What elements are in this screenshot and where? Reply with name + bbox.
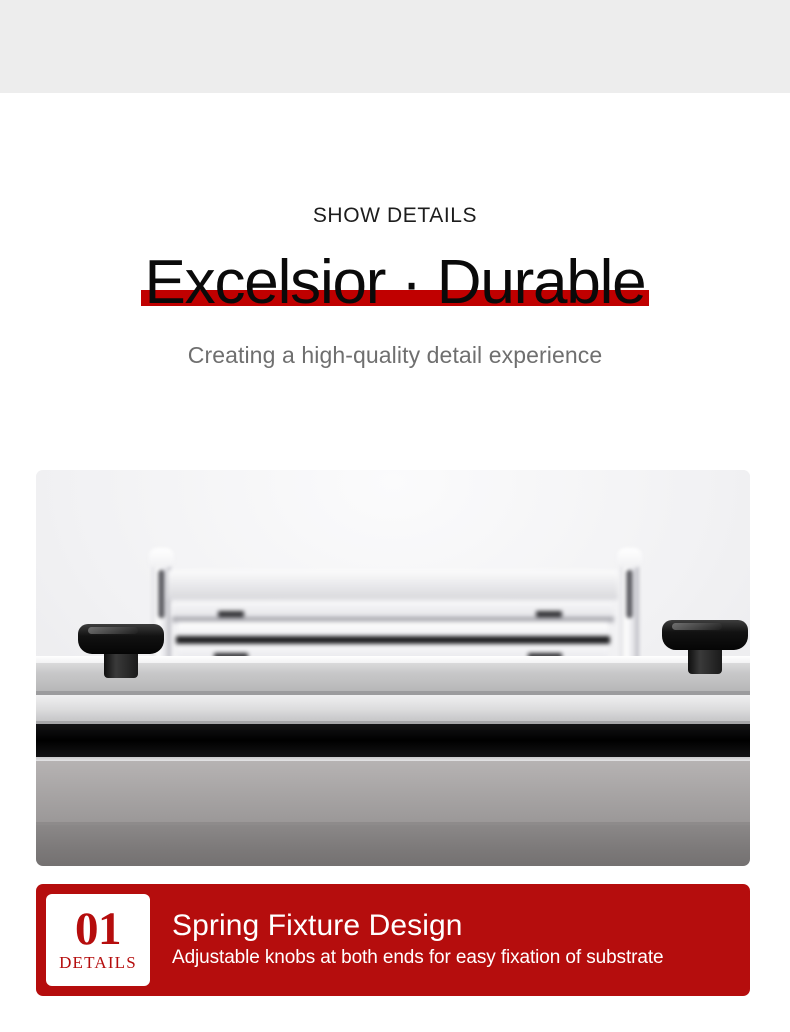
badge-number: 01 <box>75 907 121 951</box>
header-section: SHOW DETAILS Excelsior · Durable Creatin… <box>0 93 790 367</box>
adjustable-knob-left <box>78 624 164 678</box>
carriage-rail-white <box>178 622 608 635</box>
page-title: Excelsior · Durable <box>141 251 650 314</box>
carriage-rail-top <box>168 570 618 600</box>
page-title-wrapper: Excelsior · Durable <box>141 251 650 314</box>
product-photo <box>36 470 750 866</box>
knob-cap <box>662 620 748 650</box>
machine-body-stack <box>36 656 750 866</box>
body-aluminium-band <box>36 695 750 721</box>
details-badge: 01 DETAILS <box>46 894 150 986</box>
carriage-clip-tab <box>218 611 244 617</box>
knob-cap <box>78 624 164 654</box>
feature-banner: 01 DETAILS Spring Fixture Design Adjusta… <box>36 884 750 996</box>
knob-highlight <box>88 627 138 634</box>
feature-subtitle: Adjustable knobs at both ends for easy f… <box>172 947 663 970</box>
body-base-foot <box>36 825 750 866</box>
eyebrow-text: SHOW DETAILS <box>0 205 790 226</box>
feature-title: Spring Fixture Design <box>172 910 663 942</box>
page-subtitle: Creating a high-quality detail experienc… <box>0 344 790 367</box>
knob-highlight <box>672 623 722 630</box>
feature-banner-text: Spring Fixture Design Adjustable knobs a… <box>172 910 663 969</box>
badge-label: DETAILS <box>59 953 137 973</box>
top-gray-strip <box>0 0 790 93</box>
carriage-black-bar <box>176 636 610 644</box>
body-black-band <box>36 724 750 757</box>
adjustable-knob-right <box>662 620 748 674</box>
carriage-clip-tab <box>536 611 562 617</box>
body-grey-housing <box>36 761 750 825</box>
